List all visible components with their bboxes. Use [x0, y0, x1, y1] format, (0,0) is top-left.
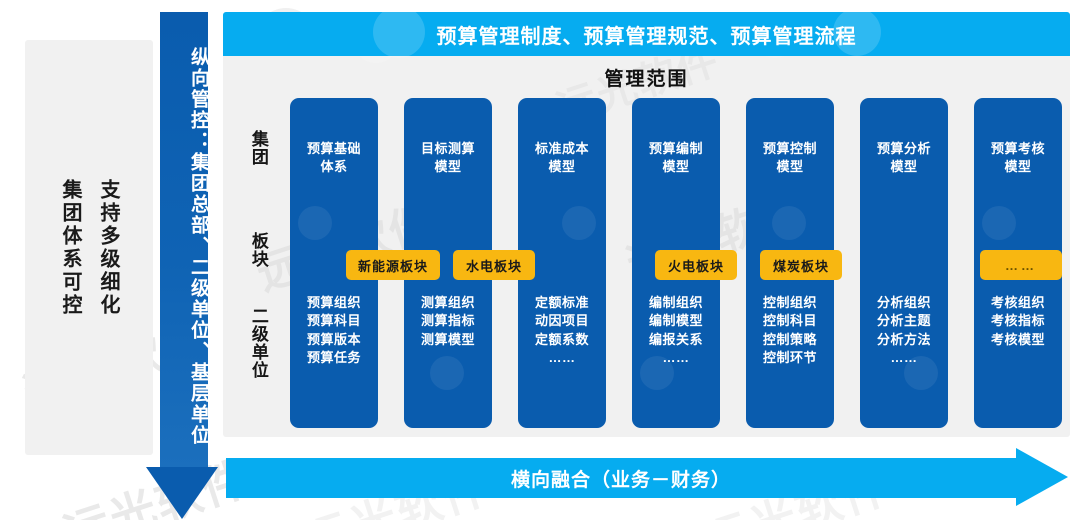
watermark-circle [373, 12, 425, 58]
vertical-arrow-label: 纵向管控：集团总部、二级单位、基层单位 [160, 16, 208, 466]
model-column-items: 定额标准 动因项目 定额系数 …… [518, 294, 606, 368]
horizontal-arrow-label: 横向融合（业务－财务） [226, 458, 1016, 498]
model-column-title: 预算编制 模型 [632, 140, 720, 176]
sector-badge-2[interactable]: 水电板块 [453, 250, 535, 280]
left-label-support-multilevel: 支持多级细化 [98, 179, 118, 317]
arrow-down-icon [146, 467, 218, 519]
vertical-control-arrow: 纵向管控：集团总部、二级单位、基层单位 [158, 12, 250, 512]
model-column-items: 编制组织 编制模型 编报关系 …… [632, 294, 720, 368]
watermark-circle [562, 206, 596, 240]
model-column-6[interactable]: 预算分析 模型分析组织 分析主题 分析方法 …… [860, 98, 948, 428]
panel-header-title: 预算管理制度、预算管理规范、预算管理流程 [437, 20, 857, 49]
watermark-circle [430, 356, 464, 390]
left-label-box: 支持多级细化 集团体系可控 [25, 40, 153, 455]
model-column-items: 考核组织 考核指标 考核模型 [974, 294, 1062, 349]
model-column-title: 标准成本 模型 [518, 140, 606, 176]
panel-header-bar: 预算管理制度、预算管理规范、预算管理流程 [223, 12, 1070, 56]
sector-badge-5[interactable]: …… [980, 250, 1062, 280]
model-column-items: 控制组织 控制科目 控制策略 控制环节 [746, 294, 834, 368]
sector-badge-1[interactable]: 新能源板块 [346, 250, 440, 280]
row-label-text: 板块 [249, 232, 267, 268]
row-label-text: 集团 [249, 130, 267, 166]
watermark-circle [298, 206, 332, 240]
horizontal-integration-arrow: 横向融合（业务－财务） [226, 450, 1076, 506]
sector-badge-4[interactable]: 煤炭板块 [760, 250, 842, 280]
management-scope-panel: 远光软件 远光软件 远光软件 预算管理制度、预算管理规范、预算管理流程 管理范围… [223, 12, 1070, 437]
model-column-title: 预算考核 模型 [974, 140, 1062, 176]
arrow-right-icon [1016, 448, 1068, 506]
model-column-items: 预算组织 预算科目 预算版本 预算任务 [290, 294, 378, 368]
row-label-text: 二级单位 [249, 307, 267, 379]
model-column-title: 预算控制 模型 [746, 140, 834, 176]
model-column-title: 预算基础 体系 [290, 140, 378, 176]
model-column-items: 测算组织 测算指标 测算模型 [404, 294, 492, 349]
model-column-title: 预算分析 模型 [860, 140, 948, 176]
sector-badge-3[interactable]: 火电板块 [655, 250, 737, 280]
diagram-canvas: 远光软件 远光软件 支持多级细化 集团体系可控 纵向管控：集团总部、二级单位、基… [0, 0, 1080, 520]
watermark-circle [982, 206, 1016, 240]
model-column-title: 目标测算 模型 [404, 140, 492, 176]
watermark-circle [772, 206, 806, 240]
model-column-items: 分析组织 分析主题 分析方法 …… [860, 294, 948, 368]
panel-subtitle: 管理范围 [223, 64, 1070, 91]
left-label-group-system-controllable: 集团体系可控 [60, 179, 80, 317]
